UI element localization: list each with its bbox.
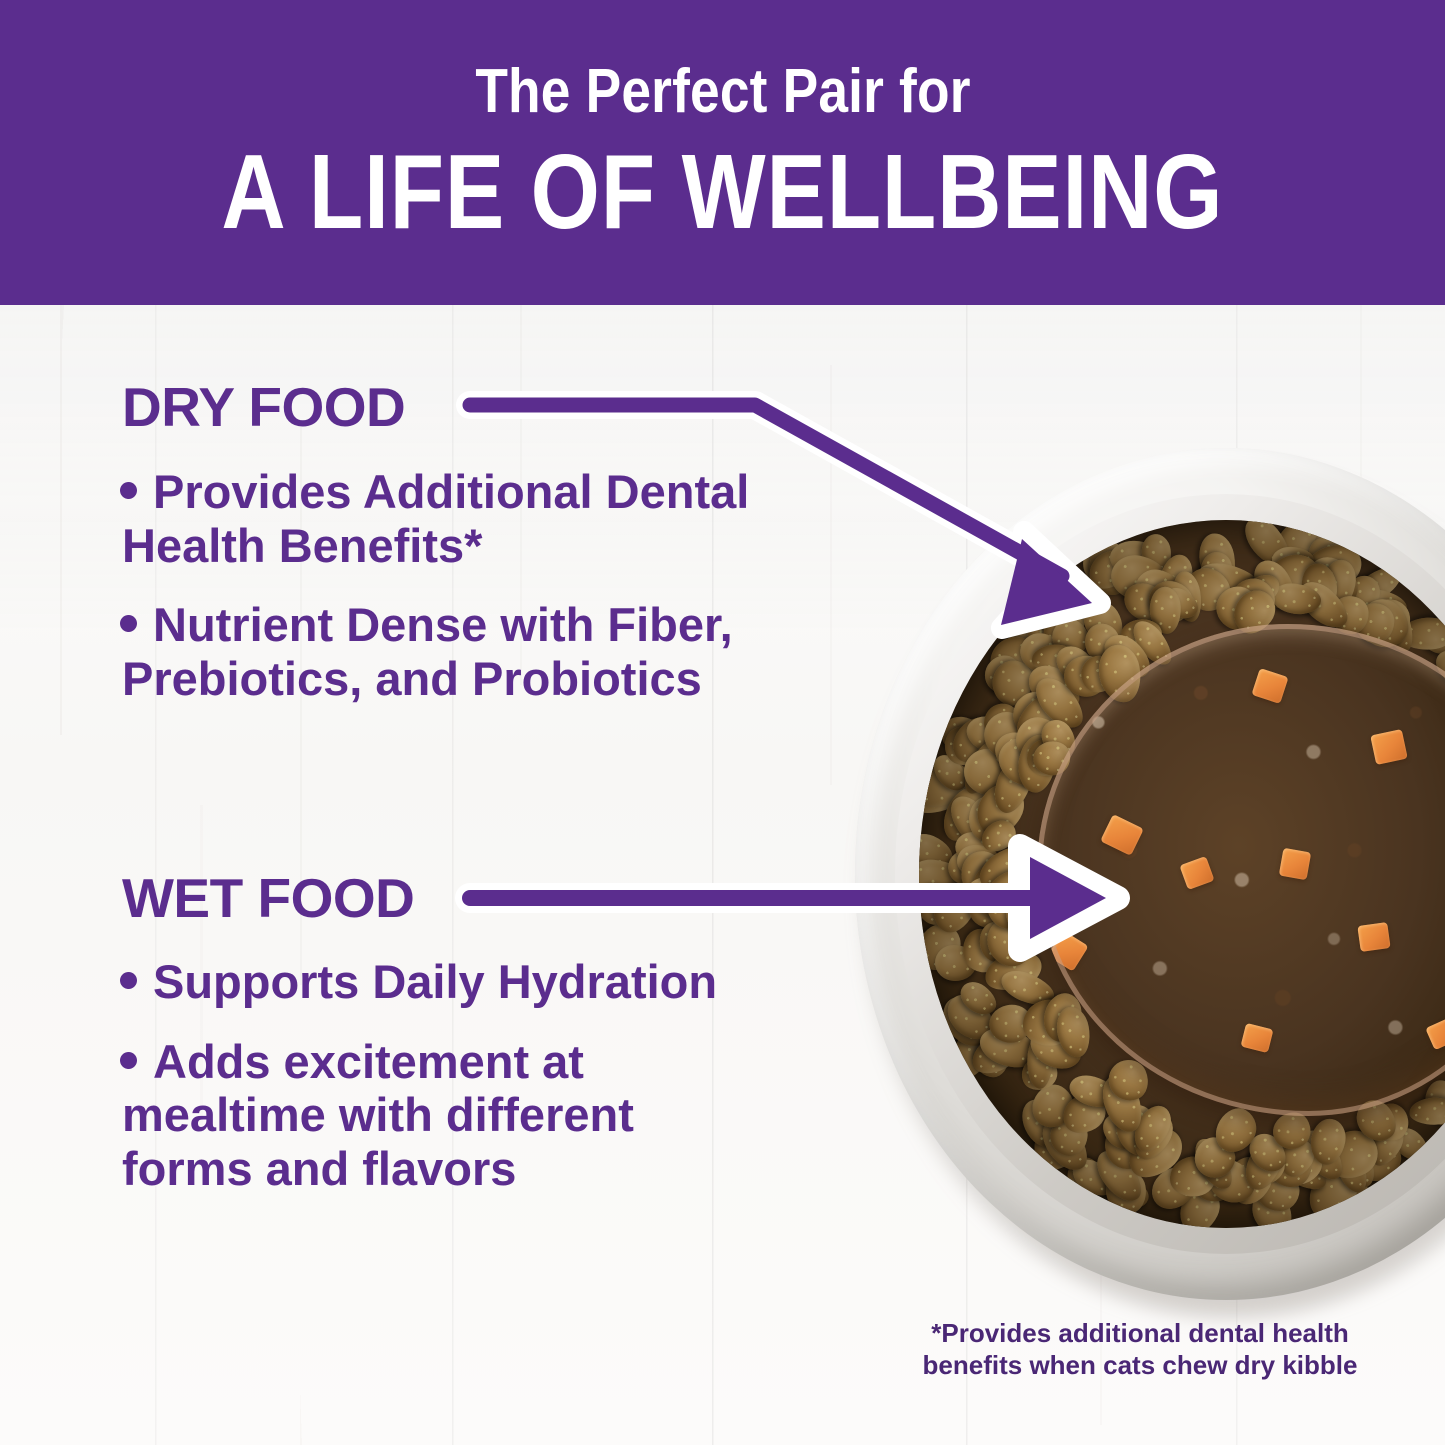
list-item-text: Supports Daily Hydration	[153, 955, 717, 1008]
bullet-dot-icon	[120, 482, 137, 499]
footnote-line-1: *Provides additional dental health	[905, 1318, 1375, 1350]
list-item: Provides Additional Dental Health Benefi…	[122, 465, 762, 572]
copy-column: DRY FOOD Provides Additional Dental Heal…	[0, 305, 800, 1445]
footnote: *Provides additional dental health benef…	[905, 1318, 1375, 1381]
list-item: Supports Daily Hydration	[122, 955, 762, 1009]
dry-food-heading: DRY FOOD	[122, 380, 405, 435]
header-banner: The Perfect Pair for A LIFE OF WELLBEING	[0, 0, 1445, 305]
bullet-dot-icon	[120, 1052, 137, 1069]
dry-food-bullet-list: Provides Additional Dental Health Benefi…	[122, 465, 762, 731]
list-item-text: Nutrient Dense with Fiber, Prebiotics, a…	[122, 598, 733, 705]
footnote-line-2: benefits when cats chew dry kibble	[905, 1350, 1375, 1382]
bullet-dot-icon	[120, 615, 137, 632]
bullet-dot-icon	[120, 972, 137, 989]
list-item: Nutrient Dense with Fiber, Prebiotics, a…	[122, 598, 762, 705]
wood-grain-line	[830, 365, 832, 785]
list-item: Adds excitement at mealtime with differe…	[122, 1035, 762, 1196]
list-item-text: Adds excitement at mealtime with differe…	[122, 1035, 634, 1195]
wood-grain-line	[1360, 305, 1362, 805]
wet-food-heading: WET FOOD	[122, 871, 414, 926]
header-subtitle: The Perfect Pair for	[475, 61, 970, 123]
wet-food-bullet-list: Supports Daily Hydration Adds excitement…	[122, 955, 762, 1221]
poster: The Perfect Pair for A LIFE OF WELLBEING	[0, 0, 1445, 1445]
list-item-text: Provides Additional Dental Health Benefi…	[122, 465, 749, 572]
header-title: A LIFE OF WELLBEING	[222, 139, 1224, 245]
